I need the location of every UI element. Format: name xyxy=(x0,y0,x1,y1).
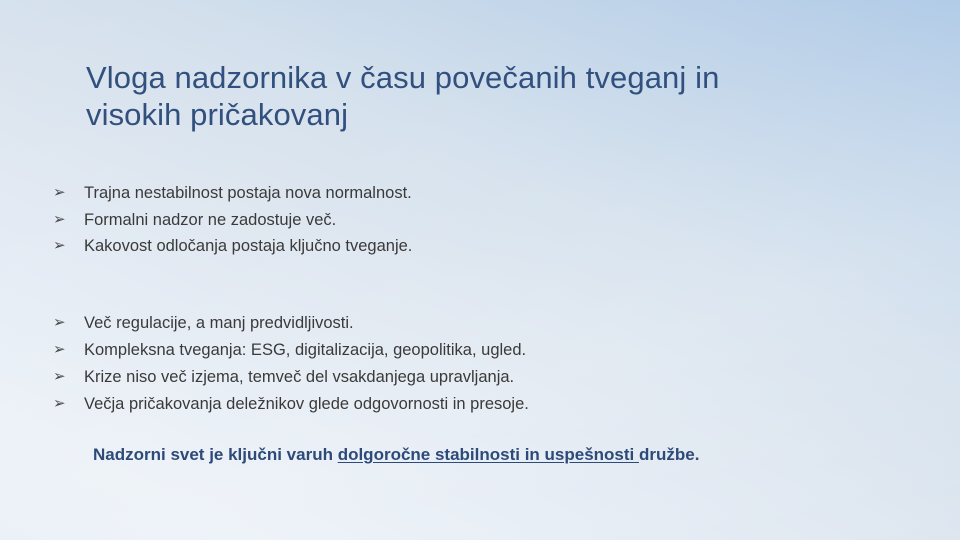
list-item: ➢ Formalni nadzor ne zadostuje več. xyxy=(52,207,912,234)
slide-title-line-2: visokih pričakovanj xyxy=(86,97,348,132)
slide-content: Vloga nadzornika v času povečanih tvegan… xyxy=(0,0,960,540)
list-item-label: Formalni nadzor ne zadostuje več. xyxy=(84,207,912,233)
list-item: ➢ Trajna nestabilnost postaja nova norma… xyxy=(52,180,912,207)
list-item-label: Kompleksna tveganja: ESG, digitalizacija… xyxy=(84,337,912,363)
list-item-label: Večja pričakovanja deležnikov glede odgo… xyxy=(84,391,912,417)
list-item-label: Kakovost odločanja postaja ključno tvega… xyxy=(84,233,912,259)
list-item-label: Krize niso več izjema, temveč del vsakda… xyxy=(84,364,912,390)
bullet-group-secondary: ➢ Več regulacije, a manj predvidljivosti… xyxy=(52,310,912,418)
list-item: ➢ Več regulacije, a manj predvidljivosti… xyxy=(52,310,912,337)
arrowhead-bullet-icon: ➢ xyxy=(52,310,84,336)
list-item: ➢ Krize niso več izjema, temveč del vsak… xyxy=(52,364,912,391)
conclusion-statement: Nadzorni svet je ključni varuh dolgoročn… xyxy=(93,442,699,468)
arrowhead-bullet-icon: ➢ xyxy=(52,180,84,206)
arrowhead-bullet-icon: ➢ xyxy=(52,364,84,390)
arrowhead-bullet-icon: ➢ xyxy=(52,207,84,233)
slide-title: Vloga nadzornika v času povečanih tvegan… xyxy=(86,60,786,133)
slide-title-line-1: Vloga nadzornika v času povečanih tvegan… xyxy=(86,60,719,95)
conclusion-emphasis: dolgoročne stabilnosti in uspešnosti xyxy=(338,445,639,464)
conclusion-suffix: družbe. xyxy=(639,445,699,464)
conclusion-prefix: Nadzorni svet je ključni varuh xyxy=(93,445,338,464)
list-item-label: Trajna nestabilnost postaja nova normaln… xyxy=(84,180,912,206)
list-item: ➢ Kompleksna tveganja: ESG, digitalizaci… xyxy=(52,337,912,364)
list-item: ➢ Večja pričakovanja deležnikov glede od… xyxy=(52,391,912,418)
arrowhead-bullet-icon: ➢ xyxy=(52,233,84,259)
arrowhead-bullet-icon: ➢ xyxy=(52,337,84,363)
presentation-slide: Vloga nadzornika v času povečanih tvegan… xyxy=(0,0,960,540)
arrowhead-bullet-icon: ➢ xyxy=(52,391,84,417)
bullet-group-primary: ➢ Trajna nestabilnost postaja nova norma… xyxy=(52,180,912,260)
list-item: ➢ Kakovost odločanja postaja ključno tve… xyxy=(52,233,912,260)
list-item-label: Več regulacije, a manj predvidljivosti. xyxy=(84,310,912,336)
